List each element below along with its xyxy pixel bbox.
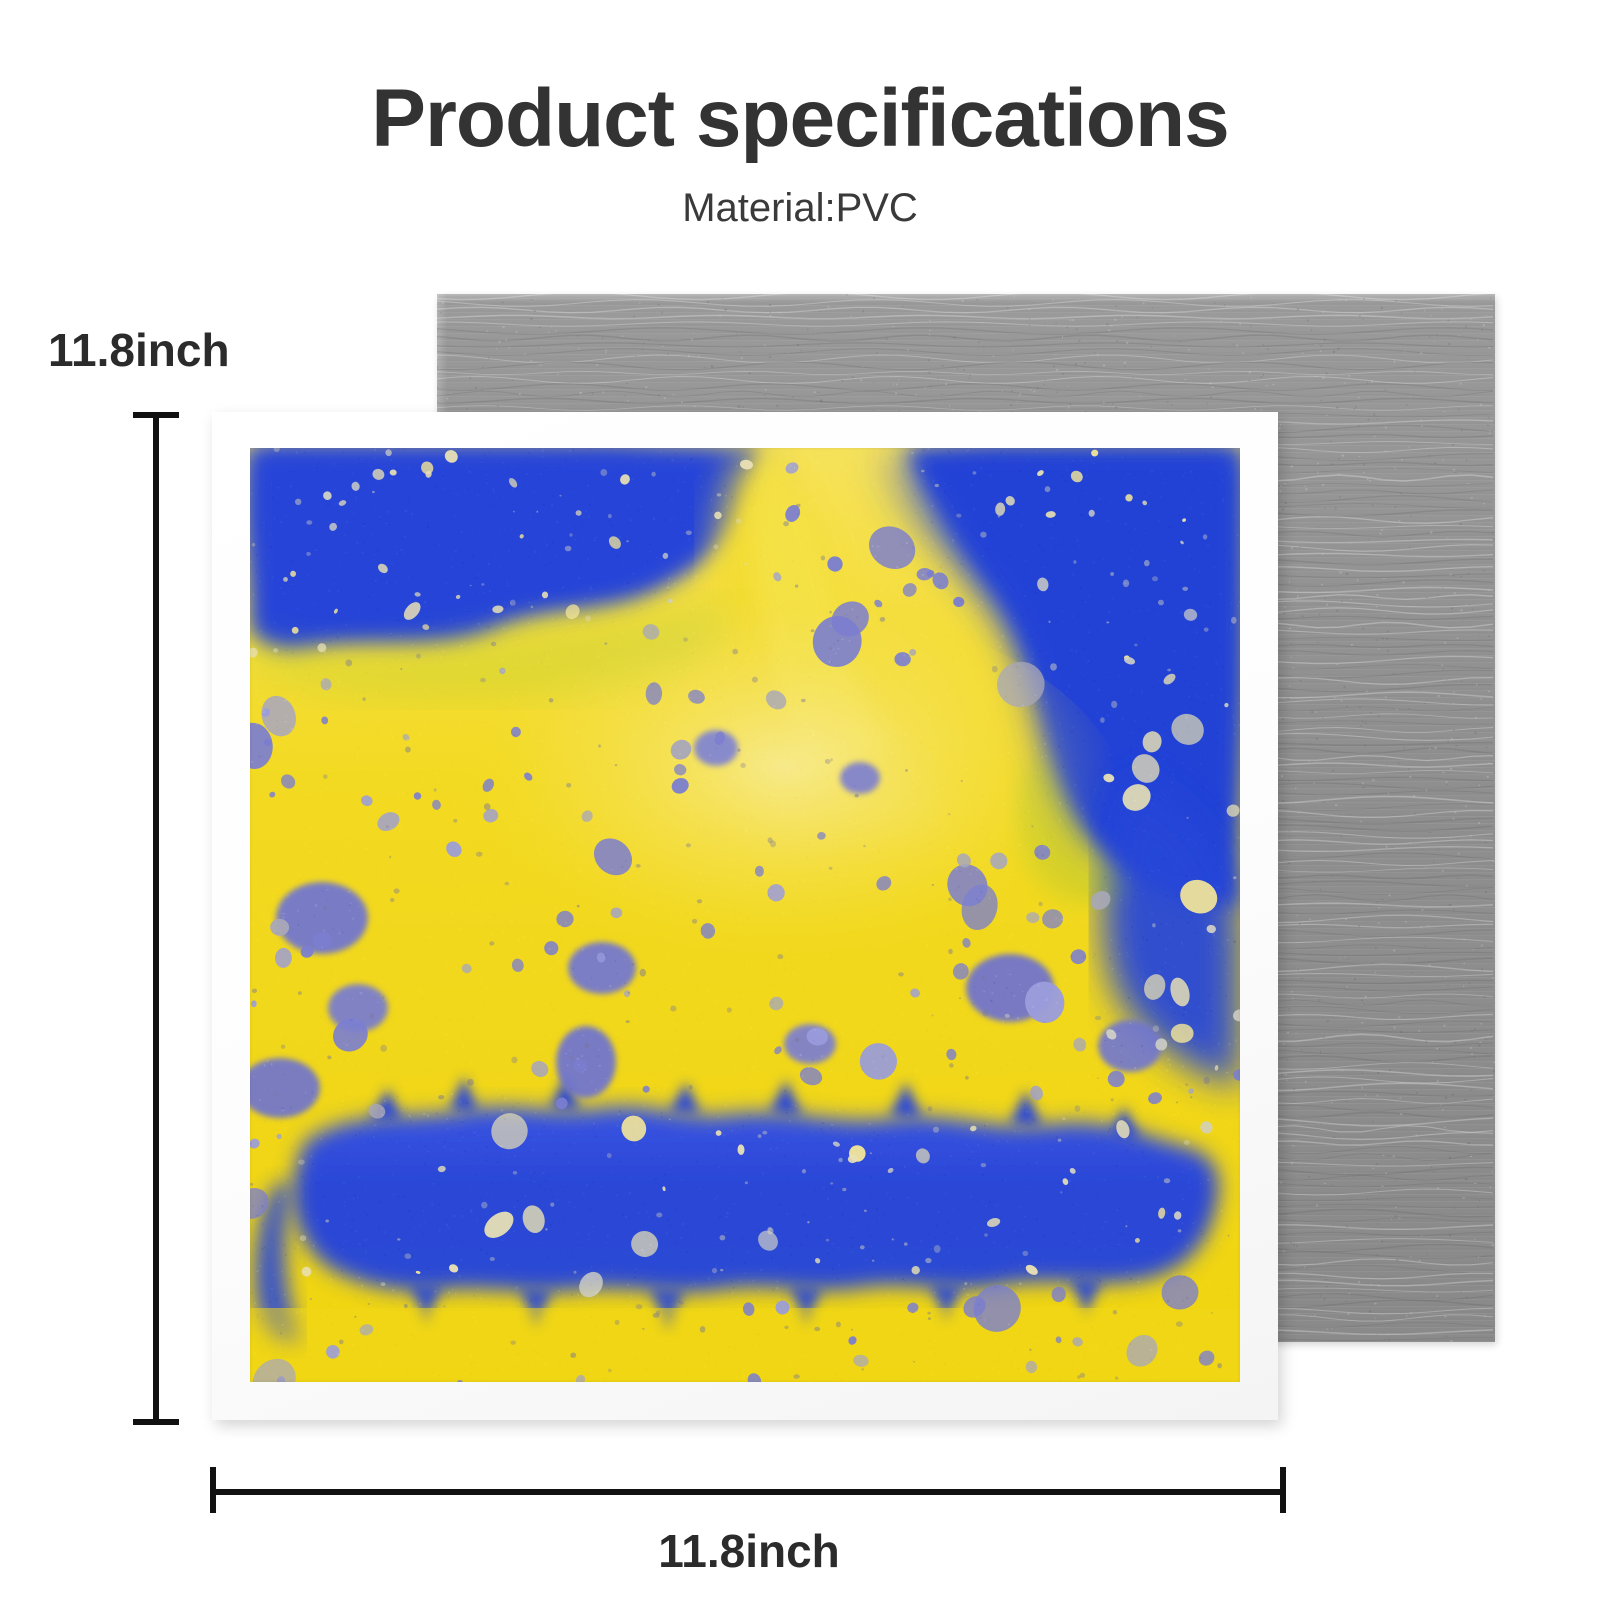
- height-dimension-label: 11.8inch: [48, 327, 230, 373]
- material-subtitle: Material:PVC: [0, 160, 1600, 228]
- width-dimension-cap-left: [210, 1467, 216, 1513]
- page-title: Product specifications: [0, 0, 1600, 160]
- framed-artwork: [212, 412, 1278, 1420]
- artwork-canvas: [250, 448, 1240, 1382]
- height-dimension-cap-top: [133, 412, 179, 418]
- artwork-paint-layers: [250, 448, 1240, 1382]
- header: Product specifications Material:PVC: [0, 0, 1600, 228]
- width-dimension-cap-right: [1280, 1467, 1286, 1513]
- height-dimension-line: [153, 412, 159, 1425]
- height-dimension-cap-bottom: [133, 1419, 179, 1425]
- width-dimension-label: 11.8inch: [0, 1528, 1498, 1574]
- width-dimension-line: [210, 1489, 1286, 1495]
